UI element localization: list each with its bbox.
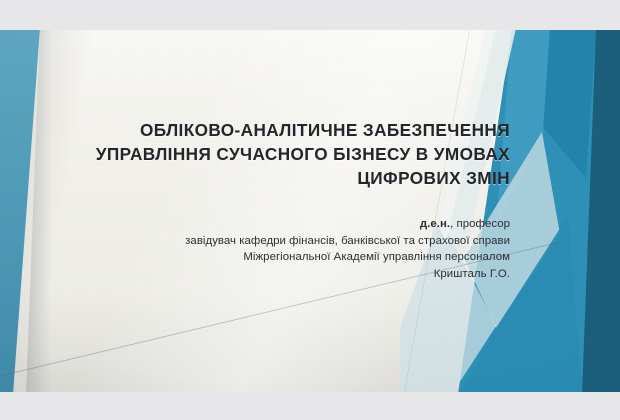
- slide-text-layer: ОБЛІКОВО-АНАЛІТИЧНЕ ЗАБЕЗПЕЧЕННЯ УПРАВЛІ…: [0, 28, 620, 394]
- slide-subtitle: д.е.н., професор завідувач кафедри фінан…: [100, 216, 510, 282]
- screenshot-viewport: ОБЛІКОВО-АНАЛІТИЧНЕ ЗАБЕЗПЕЧЕННЯ УПРАВЛІ…: [0, 0, 620, 420]
- title-line-2: УПРАВЛІННЯ СУЧАСНОГО БІЗНЕСУ В УМОВАХ: [60, 142, 510, 166]
- subtitle-line-4: Кришталь Г.О.: [100, 266, 510, 283]
- slide-title: ОБЛІКОВО-АНАЛІТИЧНЕ ЗАБЕЗПЕЧЕННЯ УПРАВЛІ…: [60, 118, 510, 190]
- letterbox-band-top: [0, 0, 620, 30]
- presentation-slide: ОБЛІКОВО-АНАЛІТИЧНЕ ЗАБЕЗПЕЧЕННЯ УПРАВЛІ…: [0, 28, 620, 394]
- title-line-1: ОБЛІКОВО-АНАЛІТИЧНЕ ЗАБЕЗПЕЧЕННЯ: [60, 118, 510, 142]
- title-line-3: ЦИФРОВИХ ЗМІН: [60, 166, 510, 190]
- subtitle-degree: д.е.н.: [420, 218, 450, 230]
- subtitle-rank: , професор: [450, 218, 510, 230]
- subtitle-line-3: Міжрегіональної Академії управління перс…: [100, 249, 510, 266]
- letterbox-band-bottom: [0, 392, 620, 420]
- subtitle-line-2: завідувач кафедри фінансів, банківської …: [100, 233, 510, 250]
- subtitle-line-1: д.е.н., професор: [100, 216, 510, 233]
